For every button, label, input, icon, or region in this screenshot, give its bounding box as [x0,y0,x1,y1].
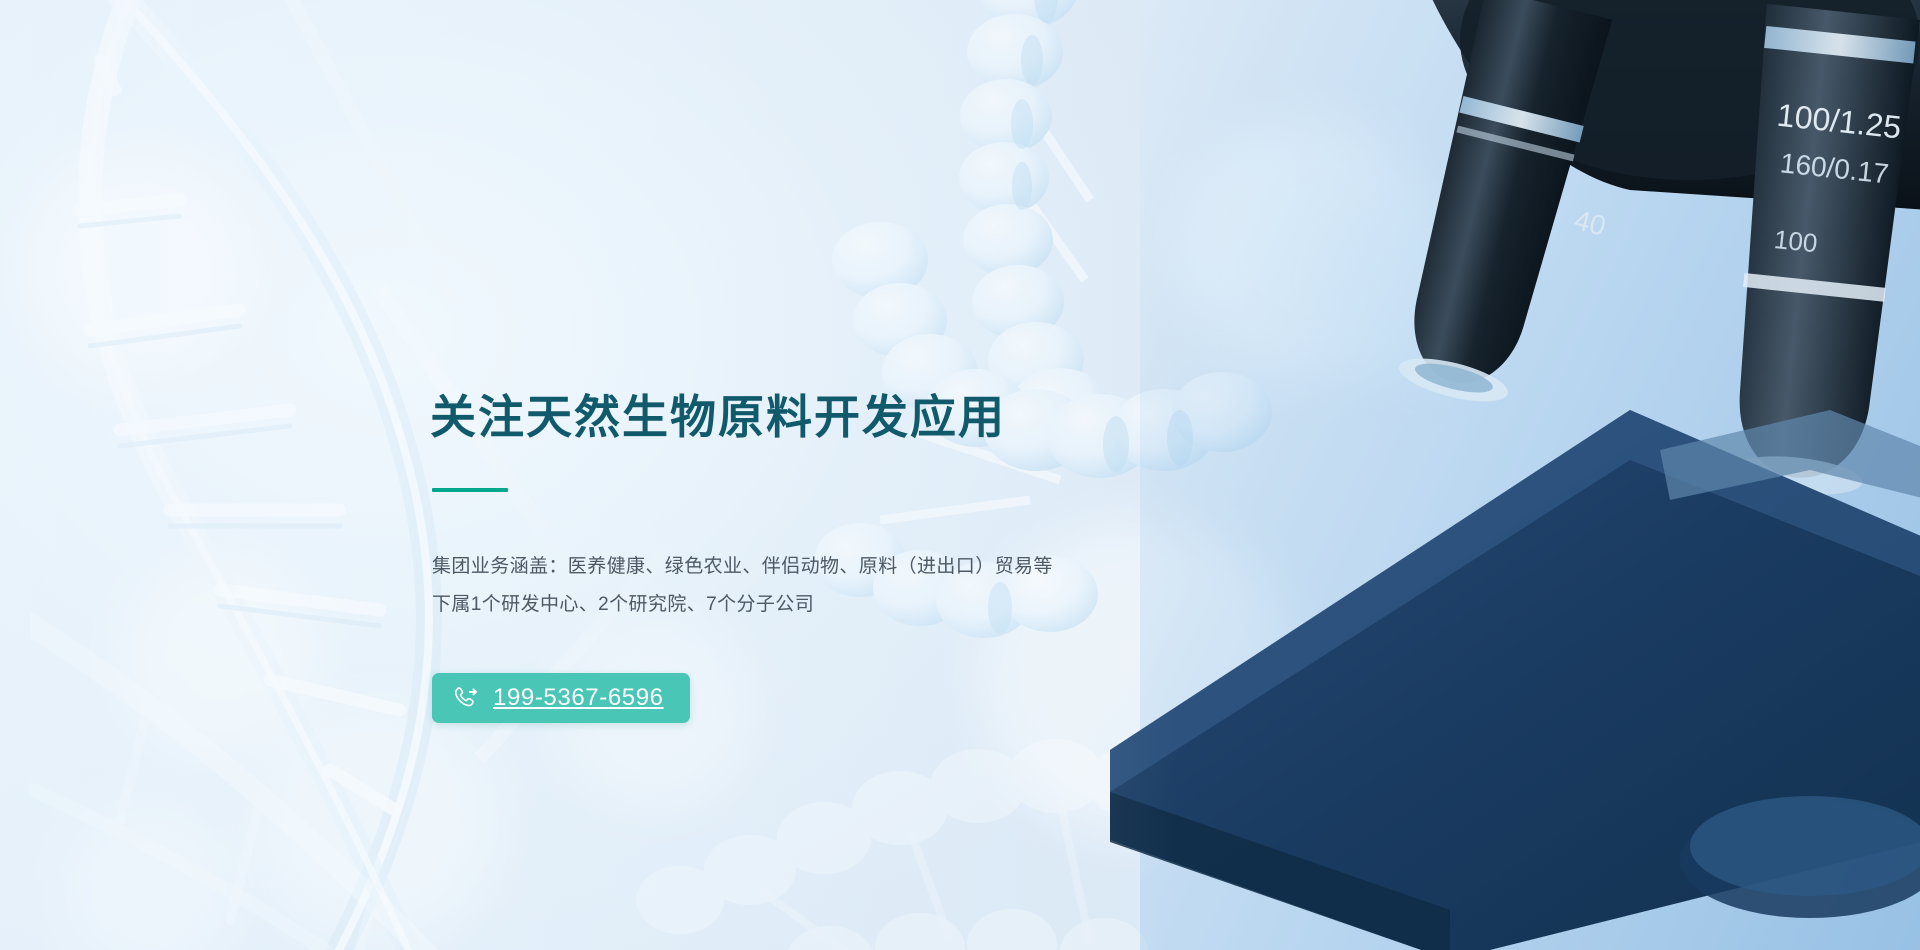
page-title: 关注天然生物原料开发应用 [430,392,1250,444]
hero-description-line-1: 集团业务涵盖：医养健康、绿色农业、伴侣动物、原料（进出口）贸易等 [432,548,1250,587]
accent-divider [432,488,508,492]
phone-number-label: 199-5367-6596 [493,686,664,710]
phone-cta-button[interactable]: 199-5367-6596 [432,673,690,723]
hero-description-line-2: 下属1个研发中心、2个研究院、7个分子公司 [432,586,1250,625]
hero-content: 关注天然生物原料开发应用 集团业务涵盖：医养健康、绿色农业、伴侣动物、原料（进出… [430,392,1250,723]
hero-banner: 40 100/1.25 160/0.17 100 关注天然生物原料开发应用 集团… [0,0,1920,950]
hero-description: 集团业务涵盖：医养健康、绿色农业、伴侣动物、原料（进出口）贸易等 下属1个研发中… [432,548,1250,626]
phone-forward-icon [454,685,480,711]
